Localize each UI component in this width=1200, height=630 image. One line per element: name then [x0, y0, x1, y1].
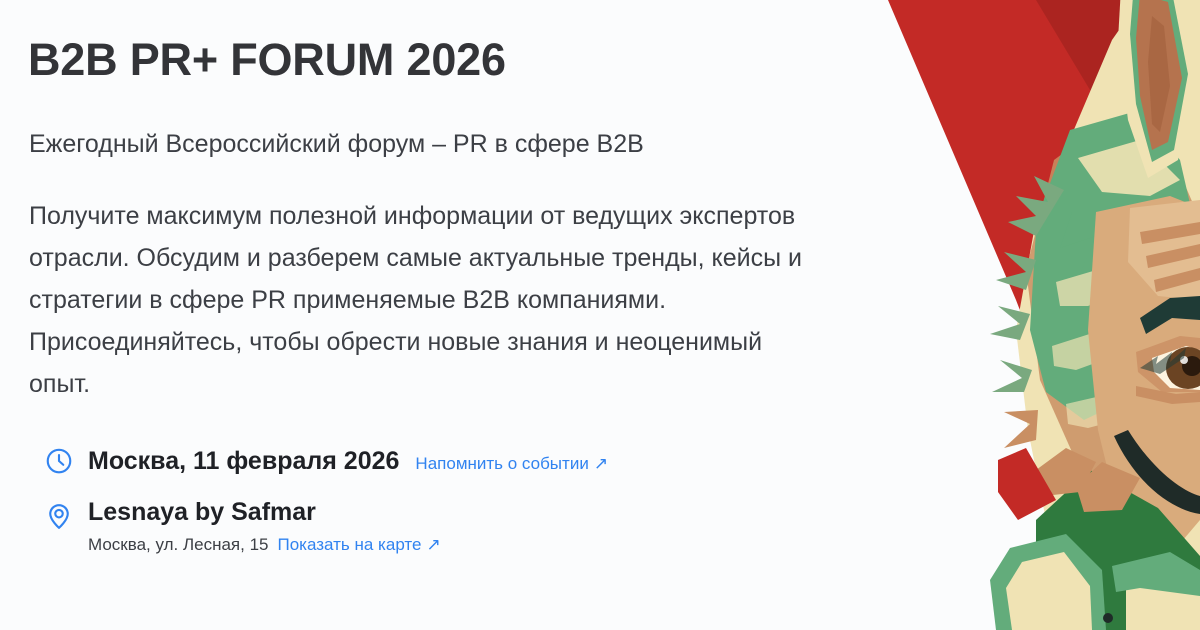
remind-about-event-link[interactable]: Напомнить о событии↗ [415, 453, 608, 475]
remind-link-label: Напомнить о событии [415, 454, 588, 473]
event-date-row: Москва, 11 февраля 2026 Напомнить о собы… [44, 445, 608, 477]
venue-name: Lesnaya by Safmar [88, 497, 441, 527]
event-subtitle: Ежегодный Всероссийский форум – PR в сфе… [29, 128, 644, 160]
venue-address: Москва, ул. Лесная, 15 [88, 534, 269, 556]
banner-content: B2B PR+ FORUM 2026 Ежегодный Всероссийск… [28, 0, 878, 630]
illustration-stylized-character-portrait [840, 0, 1200, 630]
event-venue-row: Lesnaya by Safmar Москва, ул. Лесная, 15… [44, 497, 441, 556]
event-date-text: Москва, 11 февраля 2026 [88, 445, 399, 477]
clock-icon [44, 446, 74, 476]
location-pin-icon [44, 501, 74, 531]
external-arrow-icon: ↗ [426, 534, 440, 556]
page-title: B2B PR+ FORUM 2026 [28, 33, 506, 87]
event-banner: B2B PR+ FORUM 2026 Ежегодный Всероссийск… [0, 0, 1200, 630]
show-on-map-label: Показать на карте [278, 535, 422, 554]
show-on-map-link[interactable]: Показать на карте↗ [278, 534, 441, 556]
event-description: Получите максимум полезной информации от… [29, 195, 819, 405]
external-arrow-icon: ↗ [594, 453, 608, 475]
venue-address-row: Москва, ул. Лесная, 15 Показать на карте… [88, 534, 441, 556]
